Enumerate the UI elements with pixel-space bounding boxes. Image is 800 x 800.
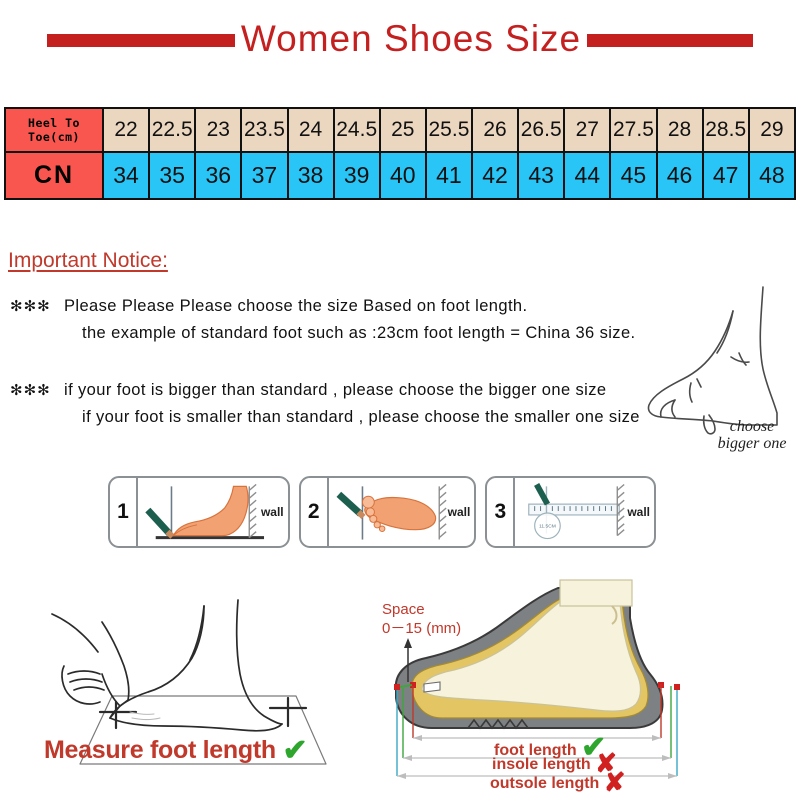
table-row-cn: CN 34 35 36 37 38 39 40 41 42 43 44 45 4… bbox=[5, 152, 795, 199]
step-box-3: 3 11.5CM bbox=[485, 476, 656, 548]
space-label: Space 0－15 (mm) bbox=[382, 600, 461, 638]
ruler-reading: 11.5CM bbox=[539, 524, 556, 530]
step-number-3: 3 bbox=[487, 478, 515, 546]
cell-cm: 28.5 bbox=[703, 108, 749, 152]
cell-cn: 36 bbox=[195, 152, 241, 199]
notice-2-line-2: if your foot is smaller than standard , … bbox=[10, 404, 640, 430]
cell-cn: 43 bbox=[518, 152, 564, 199]
measurement-steps: 1 bbox=[108, 476, 656, 548]
step-number-2: 2 bbox=[301, 478, 329, 546]
measure-foot-illustration: Measure foot length ✔ bbox=[24, 578, 374, 790]
choose-bigger-one-caption: choose bigger one bbox=[697, 418, 800, 452]
shoe-cross-section-illustration: Space 0－15 (mm) foot length ✔ insole len… bbox=[372, 578, 796, 792]
step-box-2: 2 bbox=[299, 476, 477, 548]
cell-cm: 26 bbox=[472, 108, 518, 152]
wall-label-2: wall bbox=[448, 505, 471, 519]
notice-block-1: ✻✻✻Please Please Please choose the size … bbox=[10, 293, 636, 346]
cell-cn: 35 bbox=[149, 152, 195, 199]
cell-cn: 45 bbox=[610, 152, 656, 199]
page-title: Women Shoes Size bbox=[241, 20, 581, 61]
row-header-cn: CN bbox=[5, 152, 103, 199]
step-1-illustration: wall bbox=[138, 478, 288, 546]
outsole-length-label: outsole length ✘ bbox=[490, 767, 626, 798]
cell-cn: 40 bbox=[380, 152, 426, 199]
asterisk-marker: ✻✻✻ bbox=[10, 294, 64, 320]
step-number-1: 1 bbox=[110, 478, 138, 546]
title-rule-right bbox=[587, 34, 753, 47]
cell-cm: 26.5 bbox=[518, 108, 564, 152]
cell-cm: 25 bbox=[380, 108, 426, 152]
table-row-heel-to-toe: Heel To Toe(cm) 22 22.5 23 23.5 24 24.5 … bbox=[5, 108, 795, 152]
page-title-bar: Women Shoes Size bbox=[0, 16, 800, 64]
step-3-illustration: 11.5CM wall bbox=[515, 478, 654, 546]
asterisk-marker: ✻✻✻ bbox=[10, 378, 64, 404]
notice-heading: Important Notice: bbox=[8, 249, 168, 273]
cell-cm: 23.5 bbox=[241, 108, 287, 152]
cell-cm: 25.5 bbox=[426, 108, 472, 152]
cell-cn: 47 bbox=[703, 152, 749, 199]
cell-cm: 27 bbox=[564, 108, 610, 152]
cell-cm: 29 bbox=[749, 108, 795, 152]
size-conversion-table: Heel To Toe(cm) 22 22.5 23 23.5 24 24.5 … bbox=[4, 107, 796, 200]
cell-cn: 41 bbox=[426, 152, 472, 199]
cell-cn: 39 bbox=[334, 152, 380, 199]
space-label-line-2: 0－15 (mm) bbox=[382, 620, 461, 637]
cell-cn: 48 bbox=[749, 152, 795, 199]
cell-cn: 34 bbox=[103, 152, 149, 199]
cell-cm: 22.5 bbox=[149, 108, 195, 152]
notice-1-line-1: Please Please Please choose the size Bas… bbox=[64, 297, 528, 315]
cell-cm: 23 bbox=[195, 108, 241, 152]
cell-cn: 44 bbox=[564, 152, 610, 199]
cell-cm: 22 bbox=[103, 108, 149, 152]
step-2-illustration: wall bbox=[329, 478, 475, 546]
wall-label-1: wall bbox=[261, 505, 284, 519]
cell-cm: 24 bbox=[288, 108, 334, 152]
cell-cm: 28 bbox=[657, 108, 703, 152]
cell-cm: 27.5 bbox=[610, 108, 656, 152]
cross-icon: ✘ bbox=[604, 767, 626, 797]
choose-bigger-line-1: choose bbox=[730, 418, 774, 435]
notice-1-line-2: the example of standard foot such as :23… bbox=[10, 320, 636, 346]
cell-cn: 37 bbox=[241, 152, 287, 199]
cell-cm: 24.5 bbox=[334, 108, 380, 152]
measure-caption-text: Measure foot length bbox=[44, 736, 276, 764]
wall-label-3: wall bbox=[627, 505, 650, 519]
outsole-length-text: outsole length bbox=[490, 775, 599, 792]
notice-2-line-1: if your foot is bigger than standard , p… bbox=[64, 381, 606, 399]
notice-block-2: ✻✻✻if your foot is bigger than standard … bbox=[10, 377, 640, 430]
check-icon: ✔ bbox=[282, 734, 307, 767]
step-box-1: 1 bbox=[108, 476, 290, 548]
cell-cn: 46 bbox=[657, 152, 703, 199]
measure-foot-length-caption: Measure foot length ✔ bbox=[44, 733, 307, 768]
row-header-heel-to-toe: Heel To Toe(cm) bbox=[5, 108, 103, 152]
cell-cn: 42 bbox=[472, 152, 518, 199]
space-label-line-1: Space bbox=[382, 601, 425, 618]
choose-bigger-line-2: bigger one bbox=[718, 435, 787, 452]
title-rule-left bbox=[47, 34, 235, 47]
cell-cn: 38 bbox=[288, 152, 334, 199]
